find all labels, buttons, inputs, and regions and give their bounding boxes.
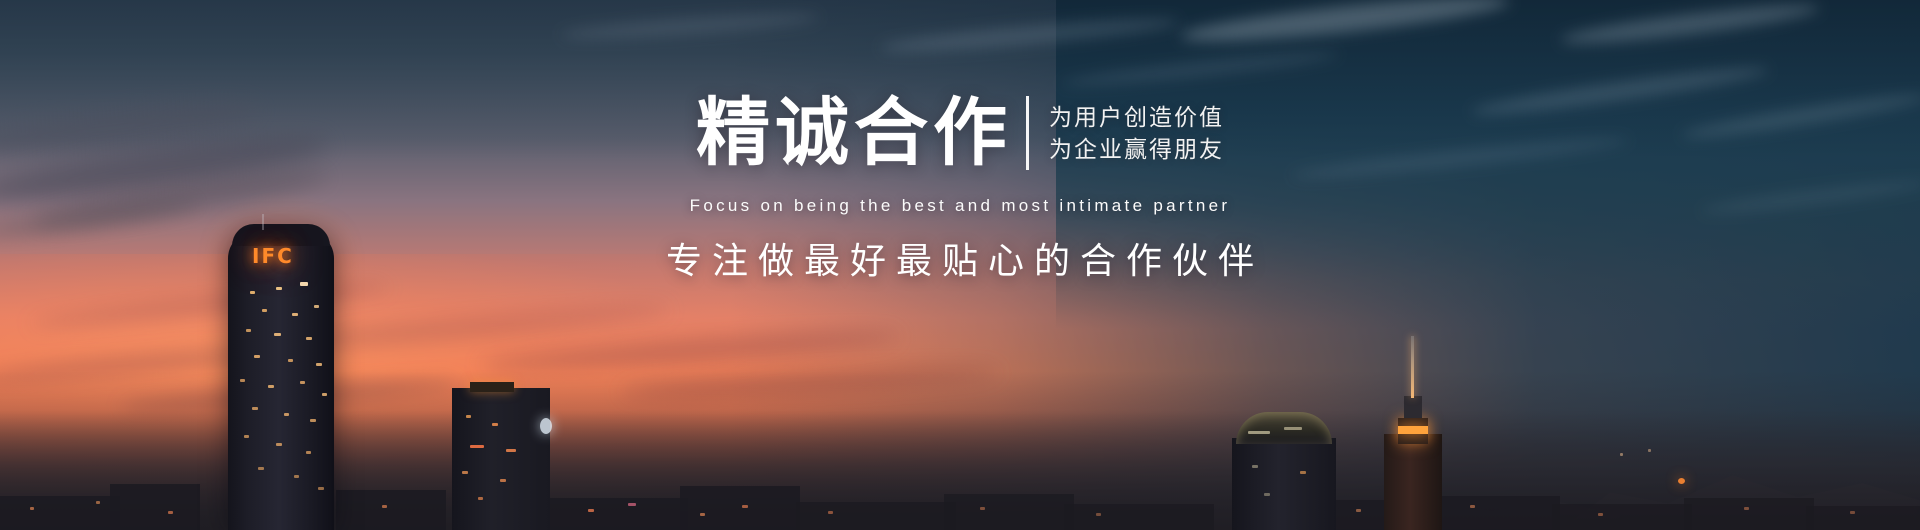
chinese-tagline: 专注做最好最贴心的合作伙伴 [656, 232, 1264, 284]
english-tagline: Focus on being the best and most intimat… [690, 196, 1231, 216]
banner-content: 精诚合作 为用户创造价值 为企业赢得朋友 Focus on being the … [0, 0, 1920, 530]
banner-headline: 精诚合作 [696, 96, 1012, 170]
sub-slogan-line-1: 为用户创造价值 [1049, 106, 1224, 129]
sub-slogan-line-2: 为企业赢得朋友 [1049, 138, 1224, 161]
hero-banner: IFC [0, 0, 1920, 530]
headline-row: 精诚合作 为用户创造价值 为企业赢得朋友 [696, 96, 1224, 170]
headline-divider [1026, 96, 1029, 170]
sub-slogan-group: 为用户创造价值 为企业赢得朋友 [1049, 106, 1224, 161]
